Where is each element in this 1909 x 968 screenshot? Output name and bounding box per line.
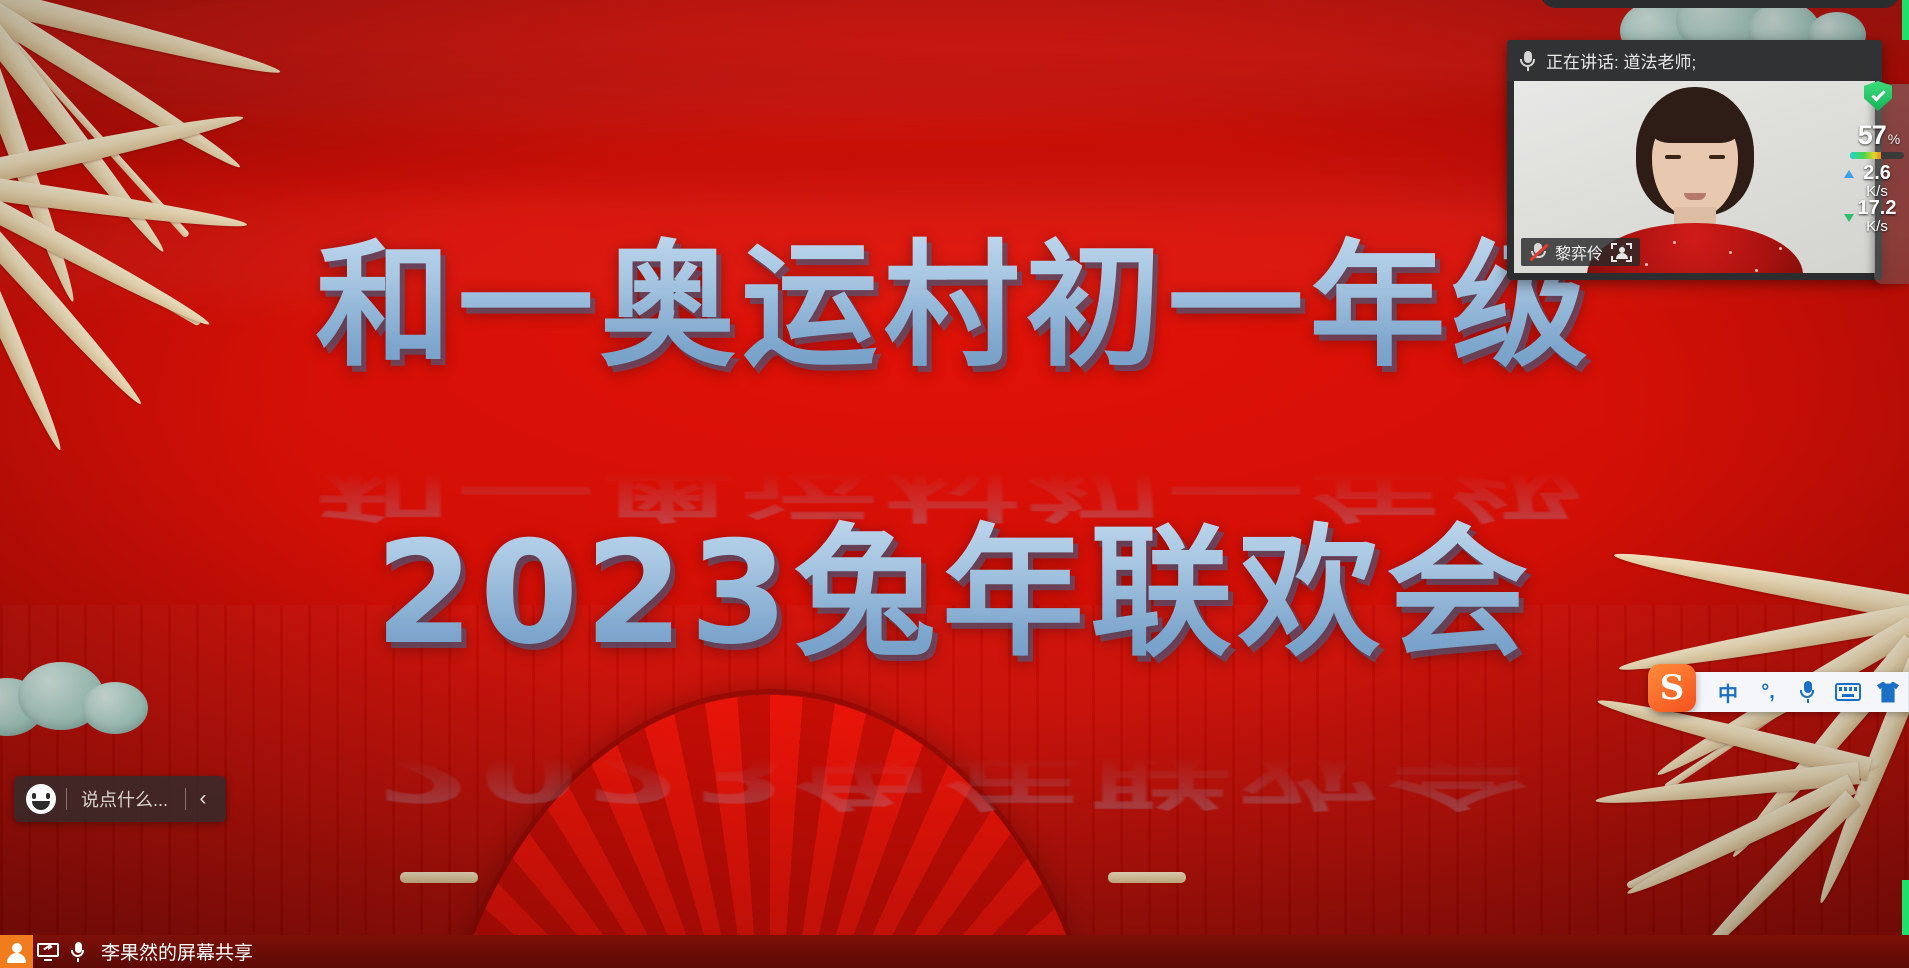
participant-mouth xyxy=(1684,193,1706,200)
person-frame-icon[interactable] xyxy=(1611,243,1632,262)
screen-root: 和一奥运村初一年级 和一奥运村初一年级 2023兔年联欢会 2023兔年联欢会 … xyxy=(0,0,1909,968)
screen-edge-indicator xyxy=(1902,880,1909,935)
emoji-smiley-icon[interactable] xyxy=(26,784,56,814)
skin-shirt-icon xyxy=(1877,682,1899,703)
video-feed[interactable]: 黎弈伶 xyxy=(1514,81,1875,273)
keyboard-icon xyxy=(1835,683,1861,701)
active-speaker-bar: 正在讲话: 道法老师; xyxy=(1507,40,1882,81)
upload-speed-readout: 2.6 K/s xyxy=(1846,163,1908,200)
participant-eye xyxy=(1709,155,1725,159)
offscreen-window-edge xyxy=(1540,0,1900,8)
participant-eye xyxy=(1665,155,1681,159)
screen-share-title: 李果然的屏幕共享 xyxy=(101,938,253,965)
chevron-left-icon[interactable]: ‹ xyxy=(186,787,220,811)
participant-video-panel[interactable]: 正在讲话: 道法老师; xyxy=(1507,40,1882,280)
download-speed-unit: K/s xyxy=(1846,218,1908,235)
screen-edge-indicator xyxy=(1902,0,1909,40)
percent-value: 57 xyxy=(1858,120,1886,151)
usage-progress-bar xyxy=(1850,152,1904,159)
microphone-icon xyxy=(1519,50,1536,72)
sogou-logo-icon[interactable]: S xyxy=(1648,664,1696,712)
participant-name-label: 黎弈伶 xyxy=(1555,240,1603,264)
bottom-status-bar: 李果然的屏幕共享 xyxy=(0,935,1909,968)
memory-percent-readout: 57 % xyxy=(1849,120,1909,151)
sogou-ime-toolbar[interactable]: 中 °, xyxy=(1660,672,1909,712)
usage-progress-fill xyxy=(1850,152,1881,159)
percent-symbol: % xyxy=(1888,131,1900,147)
participant-name-tag: 黎弈伶 xyxy=(1521,238,1640,266)
active-speaker-label: 正在讲话: 道法老师; xyxy=(1546,48,1696,73)
ime-voice-input-button[interactable] xyxy=(1788,672,1828,712)
screen-share-button[interactable] xyxy=(33,935,63,968)
ime-keyboard-button[interactable] xyxy=(1828,672,1868,712)
upload-speed-value: 2.6 xyxy=(1846,163,1908,183)
title-line2-reflection: 2023兔年联欢会 xyxy=(0,727,1909,834)
ime-mode-button[interactable]: 中 xyxy=(1708,672,1748,712)
microphone-button[interactable] xyxy=(63,935,93,968)
microphone-icon xyxy=(71,942,85,962)
microphone-icon xyxy=(1800,681,1816,703)
chat-input-bar[interactable]: 说点什么... ‹ xyxy=(14,776,226,822)
person-icon[interactable] xyxy=(0,935,33,968)
ime-skin-button[interactable] xyxy=(1868,672,1908,712)
participant-hair-fringe xyxy=(1647,103,1743,143)
download-speed-value: 17.2 xyxy=(1846,198,1908,218)
slide-title-line2: 2023兔年联欢会 xyxy=(0,477,1909,683)
download-speed-readout: 17.2 K/s xyxy=(1846,198,1908,235)
ime-punctuation-button[interactable]: °, xyxy=(1748,672,1788,712)
chat-input[interactable]: 说点什么... xyxy=(67,786,185,812)
microphone-muted-icon[interactable] xyxy=(1529,242,1547,262)
screen-share-icon xyxy=(37,943,59,961)
